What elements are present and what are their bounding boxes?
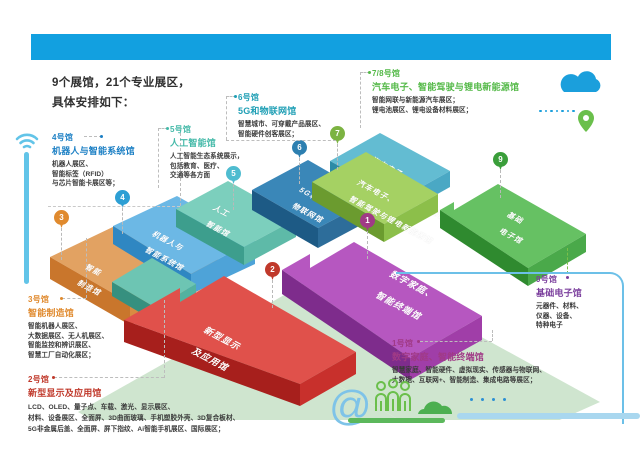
callout-hall-3-no: 3号馆 [28, 294, 49, 306]
hall-pin-3-number: 3 [54, 210, 69, 225]
leader-tick-hall-7 [368, 71, 371, 74]
callout-hall-2-no: 2号馆 [28, 374, 49, 386]
blue-ground-line [457, 413, 640, 419]
hall-pin-3[interactable]: 3 [54, 210, 69, 229]
callout-hall-7-8: 7/8号馆 汽车电子、智能驾驶与锂电新能源馆 智能网联与新能源汽车展区； 锂电池… [372, 66, 544, 115]
callout-hall-2-desc-3: 5G非金属后盖、全面屏、屏下指纹、Ai智能手机展区、国际展区； [28, 424, 318, 435]
callout-hall-7-box-left [360, 72, 361, 128]
leader-tick-hall-3 [60, 297, 63, 300]
green-ground-line [348, 418, 445, 423]
callout-hall-2-desc-2: 材料、设备展区、全面屏、3D曲面玻璃、手机塑胶外壳、3D复合板材、 [28, 413, 318, 424]
hall-pin-6[interactable]: 6 [292, 140, 307, 159]
blue-dot-row [470, 388, 514, 406]
leader-tick-hall-2 [52, 376, 55, 379]
leader-hall-3 [62, 298, 86, 299]
hall-pin-1[interactable]: 1 [360, 213, 375, 232]
at-symbol-icon: @ [329, 386, 371, 433]
callout-hall-3-desc-2: 大数据展区、无人机展区、 [28, 332, 148, 342]
callout-hall-7-8-name: 汽车电子、智能驾驶与锂电新能源馆 [372, 82, 544, 94]
bush-icon [418, 398, 452, 419]
callout-hall-3-desc-3: 智能监控和辨识展区、 [28, 341, 148, 351]
hall-pin-1-number: 1 [360, 213, 375, 228]
callout-hall-9-box-up [567, 248, 568, 274]
callout-hall-3-desc-4: 智慧工厂自动化展区； [28, 351, 148, 361]
callout-hall-5-desc-1: 人工智能生态系统展示， [170, 152, 288, 162]
callout-hall-5-desc-3: 交通等各方面 [170, 171, 288, 181]
callout-hall-2-name: 新型显示及应用馆 [28, 388, 318, 400]
dot-row-decoration [539, 99, 578, 117]
hall-pin-6-number: 6 [292, 140, 307, 155]
cloud-icon [556, 71, 604, 98]
callout-hall-3-desc-1: 智能机器人展区、 [28, 322, 148, 332]
infographic-canvas: 9个展馆，21个专业展区， 具体安排如下： [0, 0, 640, 461]
callout-hall-4-box [48, 128, 180, 207]
callout-hall-6: 6号馆 5G和物联网馆 智慧城市、可穿戴产品展区、 智能硬件创客展区； [238, 90, 360, 139]
leader-hall-2 [54, 377, 164, 378]
callout-hall-3: 3号馆 智能制造馆 智能机器人展区、 大数据展区、无人机展区、 智能监控和辨识展… [28, 292, 148, 360]
leader-tick-hall-6 [234, 95, 237, 98]
callout-hall-5-box-left [158, 128, 159, 188]
callout-hall-5-desc-2: 包括教育、医疗、 [170, 162, 288, 172]
callout-hall-2-desc-1: LCD、OLED、量子点、车载、激光、显示展区、 [28, 402, 318, 413]
callout-hall-7-8-desc-1: 智能网联与新能源汽车展区； [372, 96, 544, 106]
hall-pin-2-number: 2 [265, 262, 280, 277]
callout-hall-3-name: 智能制造馆 [28, 308, 148, 320]
callout-hall-6-box-bottom [226, 140, 336, 141]
callout-hall-6-box-left [226, 96, 227, 140]
callout-hall-5-no: 5号馆 [170, 124, 191, 136]
people-group-icon [374, 379, 412, 418]
hall-pin-9[interactable]: 9 [493, 152, 508, 171]
hall-pin-9-number: 9 [493, 152, 508, 167]
callout-hall-3-box-up [86, 238, 87, 298]
callout-hall-7-8-desc-2: 锂电池展区、锂电设备材料展区； [372, 106, 544, 116]
callout-hall-2: 2号馆 新型显示及应用馆 LCD、OLED、量子点、车载、激光、显示展区、 材料… [28, 372, 318, 435]
leader-tick-hall-5 [166, 127, 169, 130]
hall-pin-2[interactable]: 2 [265, 262, 280, 281]
callout-hall-6-desc-2: 智能硬件创客展区； [238, 130, 360, 140]
callout-hall-7-8-no: 7/8号馆 [372, 68, 400, 80]
callout-hall-6-name: 5G和物联网馆 [238, 106, 360, 118]
map-pin-icon [578, 110, 594, 137]
top-banner-bar [31, 34, 611, 60]
callout-hall-2-box-up [164, 300, 165, 378]
callout-hall-6-desc-1: 智慧城市、可穿戴产品展区、 [238, 120, 360, 130]
callout-hall-6-no: 6号馆 [238, 92, 259, 104]
